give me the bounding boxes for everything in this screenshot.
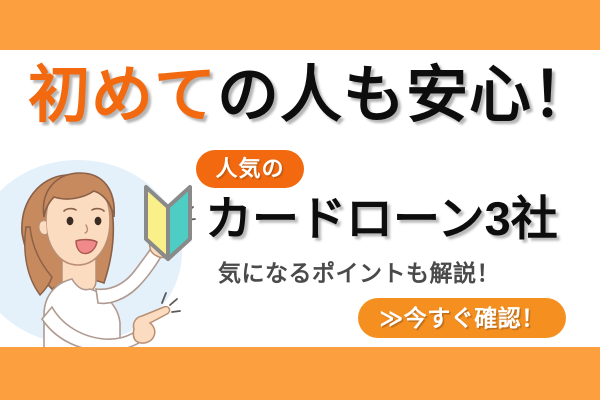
eye-right (95, 217, 102, 225)
main-title: カードローン3社 (205, 190, 597, 248)
popular-badge: 人気の (196, 150, 304, 188)
subtitle: 気になるポイントも解説！ (218, 258, 590, 288)
ear (39, 220, 47, 234)
top-orange-bar (0, 0, 600, 50)
headline-orange-part: 初めて (28, 61, 217, 130)
check-now-button[interactable]: ≫今すぐ確認！ (358, 298, 566, 338)
eye-left (67, 217, 74, 225)
promo-banner: 初めての人も安心！ (0, 0, 600, 400)
headline-black-part: の人も安心！ (217, 61, 595, 130)
bottom-orange-bar (0, 347, 600, 400)
woman-pointing-illustration (0, 155, 200, 350)
headline: 初めての人も安心！ (28, 56, 588, 136)
